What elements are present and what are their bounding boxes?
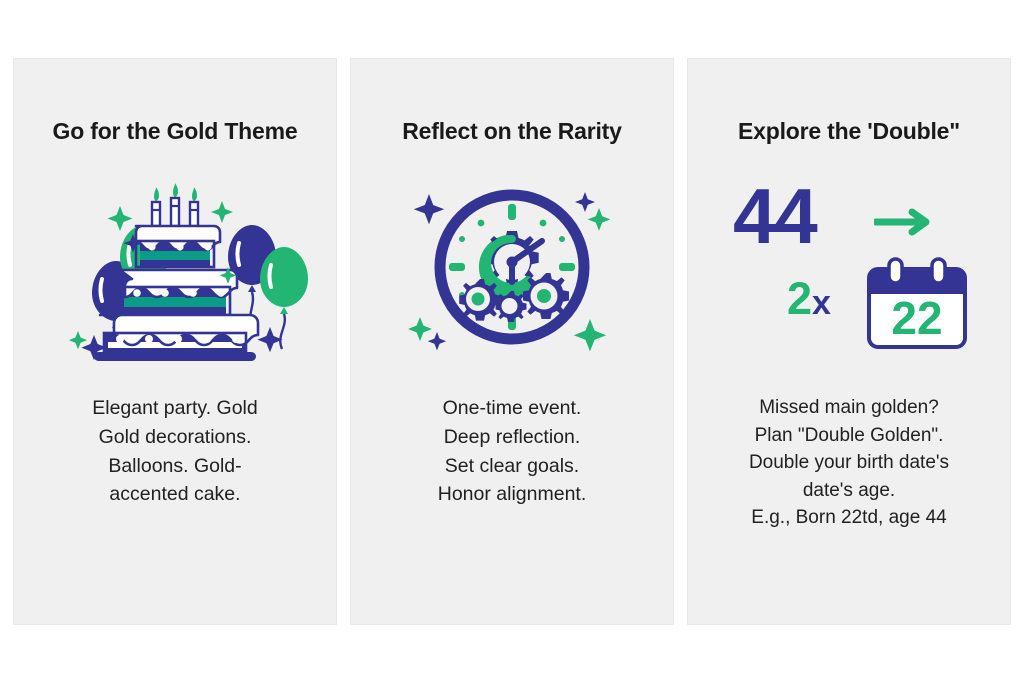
card-body-text: Elegant party. Gold Gold decorations. Ba… — [46, 394, 304, 509]
calendar-day-number: 22 — [891, 292, 942, 344]
multiplier-suffix: x — [812, 284, 831, 322]
card-gold-theme: Go for the Gold Theme — [13, 58, 337, 625]
arrow-right-icon — [874, 207, 932, 242]
card-body-text: Missed main golden? Plan "Double Golden"… — [714, 394, 984, 532]
card-title: Reflect on the Rarity — [402, 119, 621, 144]
calendar-icon: 22 — [865, 257, 969, 356]
card-title: Explore the 'Double" — [738, 119, 960, 144]
double-age-calendar-icon: 44 2x 22 — [699, 166, 999, 366]
cards-board: Go for the Gold Theme — [0, 0, 1024, 688]
card-title: Go for the Gold Theme — [53, 119, 298, 144]
card-body-text: One-time event. Deep reflection. Set cle… — [383, 394, 641, 509]
multiplier-value: 2 — [787, 273, 812, 324]
card-double: Explore the 'Double" 44 2x — [687, 58, 1011, 625]
card-rarity: Reflect on the Rarity — [350, 58, 674, 625]
multiplier-label: 2x — [787, 276, 831, 321]
birthday-cake-balloons-icon — [25, 166, 325, 366]
clock-gears-sparkles-icon — [362, 166, 662, 366]
age-number: 44 — [733, 177, 816, 255]
